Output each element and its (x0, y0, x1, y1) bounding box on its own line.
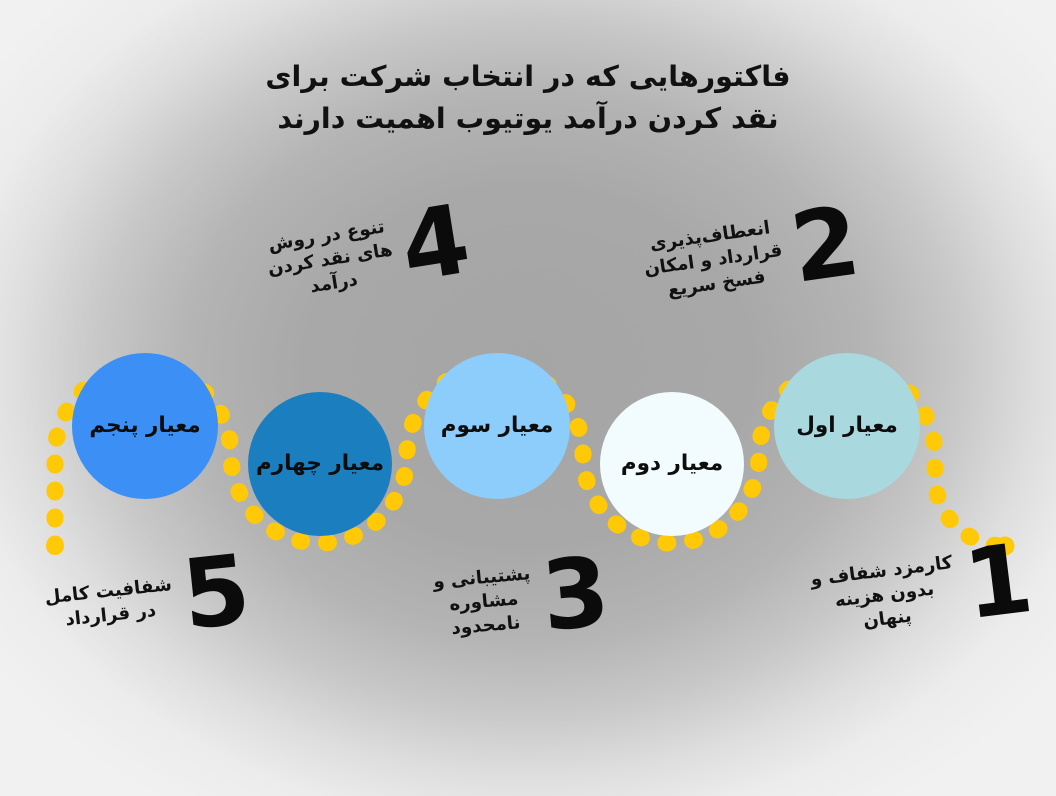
node-label-2: معیار دوم (621, 451, 723, 477)
node-circle-4[interactable]: معیار چهارم (248, 392, 392, 536)
callout-number-1: 1 (961, 539, 1034, 625)
node-circle-2[interactable]: معیار دوم (600, 392, 744, 536)
callout-text-3: پشتیبانی و مشاوره نامحدود (428, 561, 545, 643)
node-label-1: معیار اول (796, 413, 898, 439)
callout-4[interactable]: 4 تنوع در روش های نقد کردن درآمد (258, 200, 472, 310)
callout-text-2: انعطاف‌پذیری قرارداد و امکان فسخ سریع (635, 214, 797, 307)
node-circle-5[interactable]: معیار پنجم (72, 353, 218, 499)
callout-3[interactable]: 3 پشتیبانی و مشاوره نامحدود (428, 553, 609, 647)
callout-text-5: شفافیت کامل در قرارداد (40, 572, 186, 635)
page-title: فاکتورهایی که در انتخاب شرکت برای نقد کر… (0, 56, 1056, 140)
callout-text-1: کارمزد شفاف و بدون هزینه پنهان (805, 550, 969, 641)
page-title-line-2: نقد کردن درآمد یوتیوب اهمیت دارند (0, 98, 1056, 140)
callout-2[interactable]: 2 انعطاف‌پذیری قرارداد و امکان فسخ سریع (635, 202, 861, 310)
callout-number-2: 2 (787, 202, 861, 289)
callout-1[interactable]: 1 کارمزد شفاف و بدون هزینه پنهان (805, 539, 1033, 644)
callout-number-4: 4 (396, 200, 471, 288)
wave-endpoint-left-dot (46, 537, 64, 555)
node-label-4: معیار چهارم (256, 451, 384, 477)
callout-text-4: تنوع در روش های نقد کردن درآمد (258, 213, 408, 307)
callout-number-3: 3 (539, 553, 609, 637)
node-label-3: معیار سوم (441, 413, 554, 439)
node-circle-3[interactable]: معیار سوم (424, 353, 570, 499)
infographic-canvas: فاکتورهایی که در انتخاب شرکت برای نقد کر… (0, 0, 1056, 796)
callout-5[interactable]: 5 شفافیت کامل در قرارداد (38, 551, 251, 651)
page-title-line-1: فاکتورهایی که در انتخاب شرکت برای (0, 56, 1056, 98)
callout-number-5: 5 (179, 551, 251, 636)
node-label-5: معیار پنجم (89, 413, 200, 439)
node-circle-1[interactable]: معیار اول (774, 353, 920, 499)
